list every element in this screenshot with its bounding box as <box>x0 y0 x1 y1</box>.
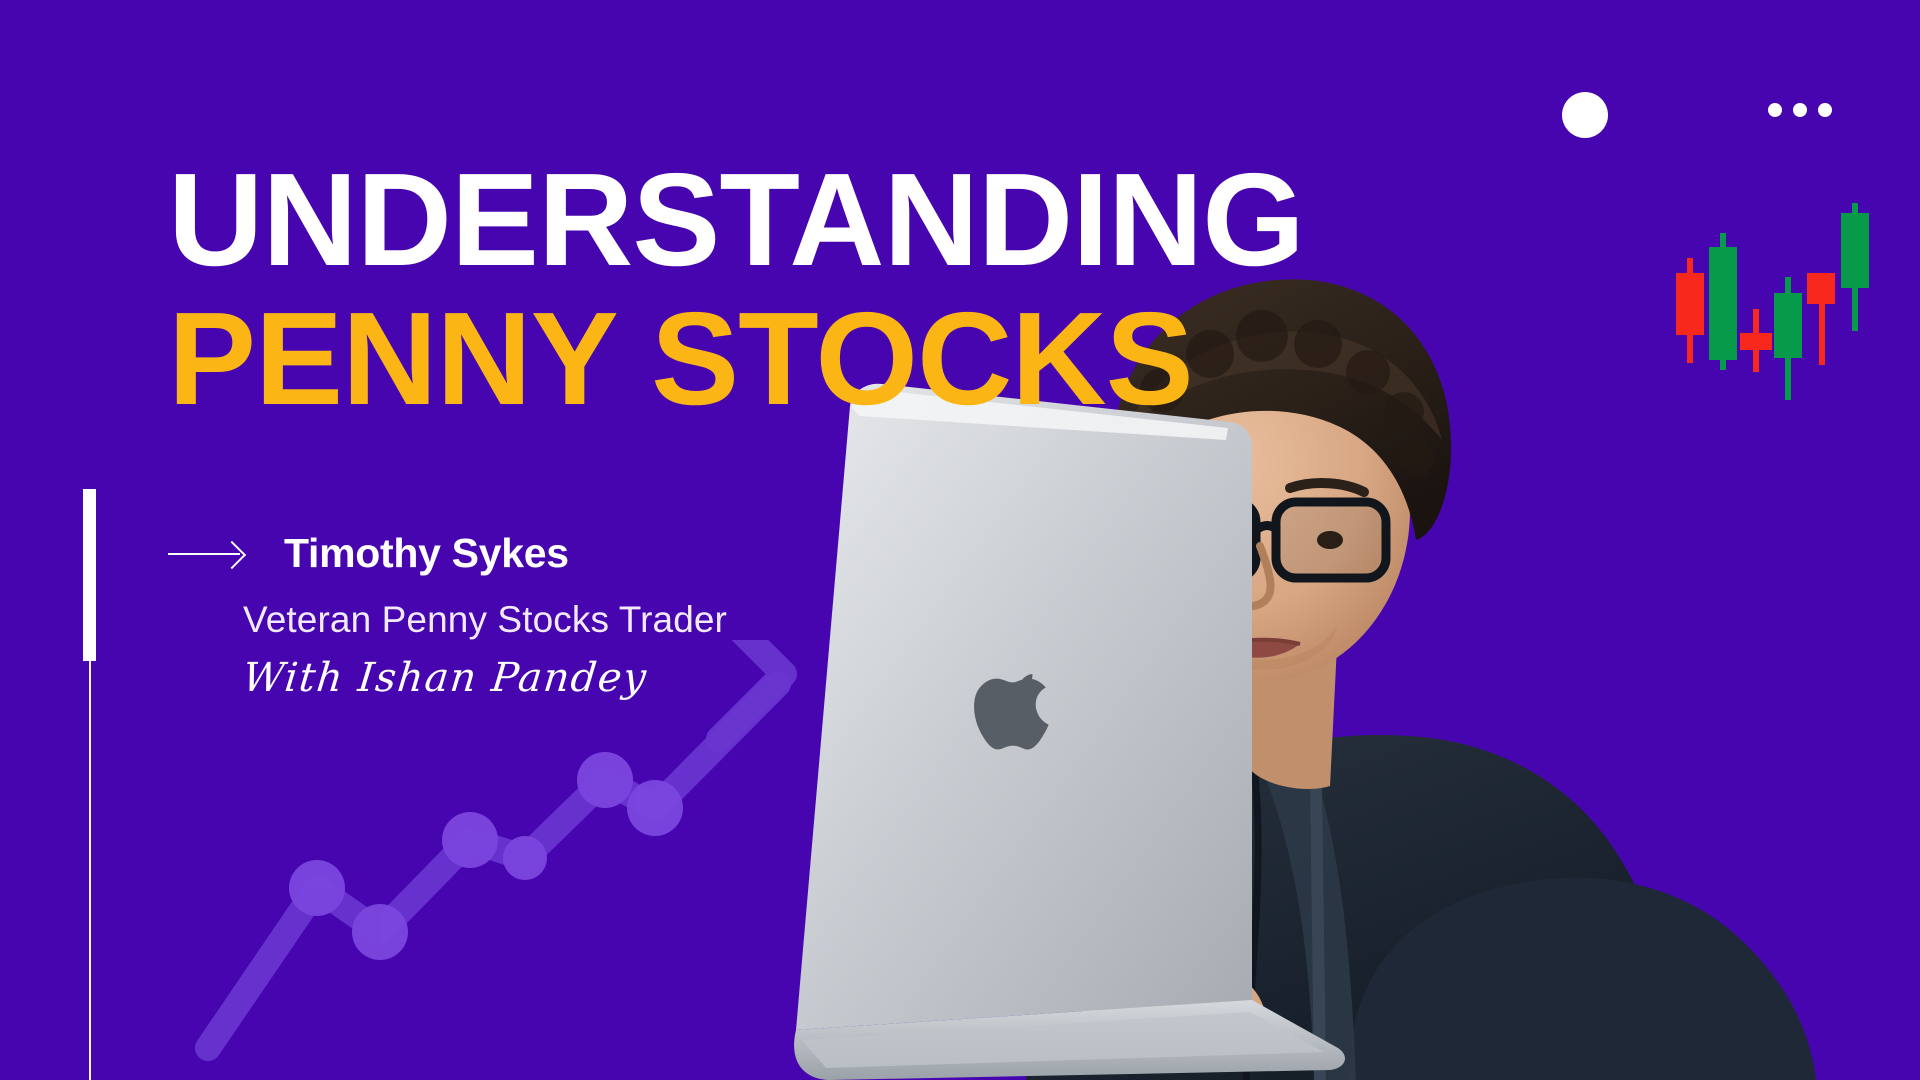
ellipsis-dot <box>1793 103 1807 117</box>
presenter-cohost: With Ishan Pandey <box>241 655 931 701</box>
presenter-block: Timothy Sykes Veteran Penny Stocks Trade… <box>168 530 928 701</box>
trend-node <box>577 752 633 808</box>
ellipsis-dot <box>1818 103 1832 117</box>
trend-node <box>352 904 408 960</box>
arrow-right-icon <box>168 539 250 569</box>
presenter-name: Timothy Sykes <box>284 530 569 577</box>
accent-bar-thin <box>89 655 91 1080</box>
slide-canvas: UNDERSTANDING PENNY STOCKS Timothy Sykes… <box>0 0 1920 1080</box>
ellipsis-dot <box>1768 103 1782 117</box>
presenter-name-row: Timothy Sykes <box>168 530 928 577</box>
headline-line-1: UNDERSTANDING <box>168 155 1348 284</box>
trend-node <box>289 860 345 916</box>
trend-node <box>442 812 498 868</box>
trend-line-chart <box>180 640 880 1080</box>
record-dot-icon <box>1562 92 1608 138</box>
accent-bar-thick <box>83 489 96 661</box>
trend-node <box>503 836 547 880</box>
trend-node <box>627 780 683 836</box>
headline-line-2: PENNY STOCKS <box>168 294 1348 423</box>
presenter-role: Veteran Penny Stocks Trader <box>243 599 928 641</box>
headline-block: UNDERSTANDING PENNY STOCKS <box>168 155 1348 424</box>
trend-line-nodes <box>289 752 683 960</box>
ellipsis-menu-icon[interactable] <box>1768 103 1832 117</box>
trend-line-path <box>208 684 778 1048</box>
